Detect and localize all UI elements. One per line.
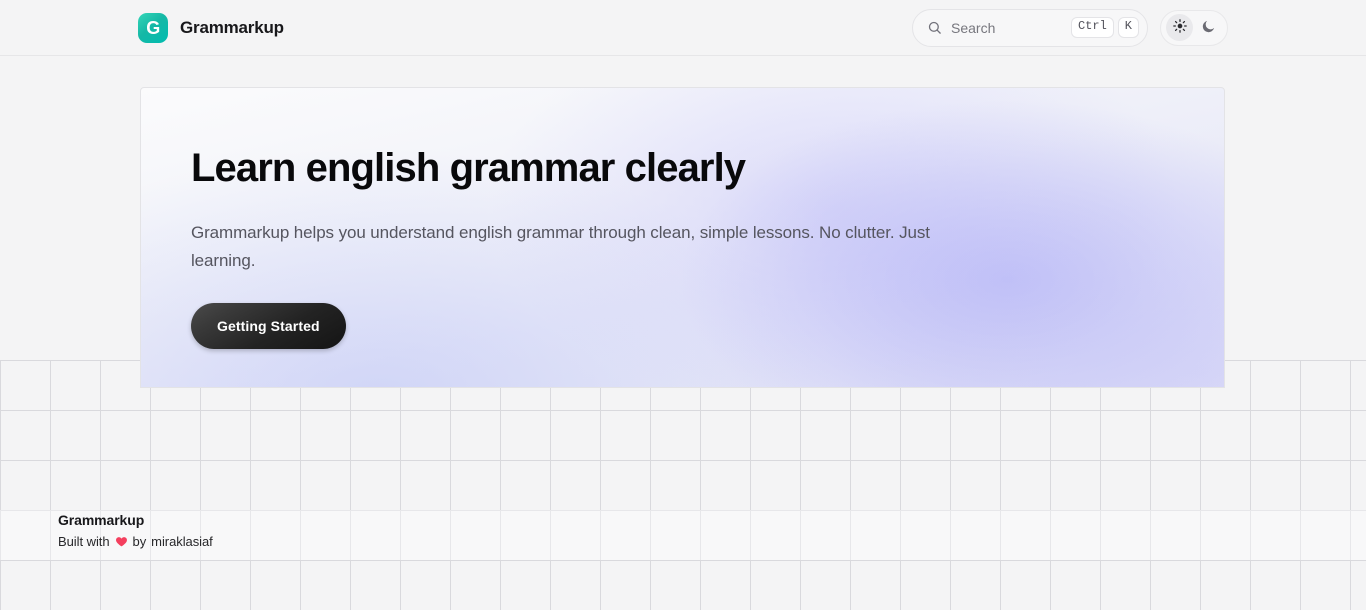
- theme-dark-button[interactable]: [1195, 14, 1222, 41]
- page-title: Learn english grammar clearly: [191, 146, 1191, 192]
- theme-light-button[interactable]: [1166, 14, 1193, 41]
- heart-icon: [115, 535, 128, 548]
- sun-icon: [1173, 19, 1187, 36]
- footer-credit-middle: by: [133, 534, 147, 549]
- header-actions: Ctrl K: [912, 9, 1228, 47]
- hero-subtitle: Grammarkup helps you understand english …: [191, 219, 981, 275]
- grammarkup-logo-icon: G: [138, 13, 168, 43]
- brand-logo-link[interactable]: G Grammarkup: [138, 13, 284, 43]
- search-shortcut: Ctrl K: [1071, 17, 1139, 38]
- site-header: G Grammarkup Ctrl K: [0, 0, 1366, 56]
- footer-credit: Built with by miraklasiaf: [58, 534, 213, 549]
- hero-card: Learn english grammar clearly Grammarkup…: [140, 87, 1225, 388]
- logo-letter: G: [146, 19, 160, 37]
- brand-name: Grammarkup: [180, 18, 284, 38]
- moon-icon: [1201, 19, 1216, 37]
- kbd-k: K: [1118, 17, 1139, 38]
- background-grid: [0, 360, 1366, 610]
- footer-credit-author: miraklasiaf: [151, 534, 213, 549]
- getting-started-button[interactable]: Getting Started: [191, 303, 346, 349]
- search-icon: [927, 20, 942, 35]
- search-box[interactable]: Ctrl K: [912, 9, 1148, 47]
- search-input[interactable]: [951, 20, 1071, 36]
- footer-brand: Grammarkup: [58, 512, 213, 528]
- hero-content: Learn english grammar clearly Grammarkup…: [191, 88, 1191, 349]
- theme-toggle[interactable]: [1160, 10, 1228, 46]
- footer-credit-prefix: Built with: [58, 534, 110, 549]
- site-footer: Grammarkup Built with by miraklasiaf: [58, 512, 213, 549]
- kbd-ctrl: Ctrl: [1071, 17, 1114, 38]
